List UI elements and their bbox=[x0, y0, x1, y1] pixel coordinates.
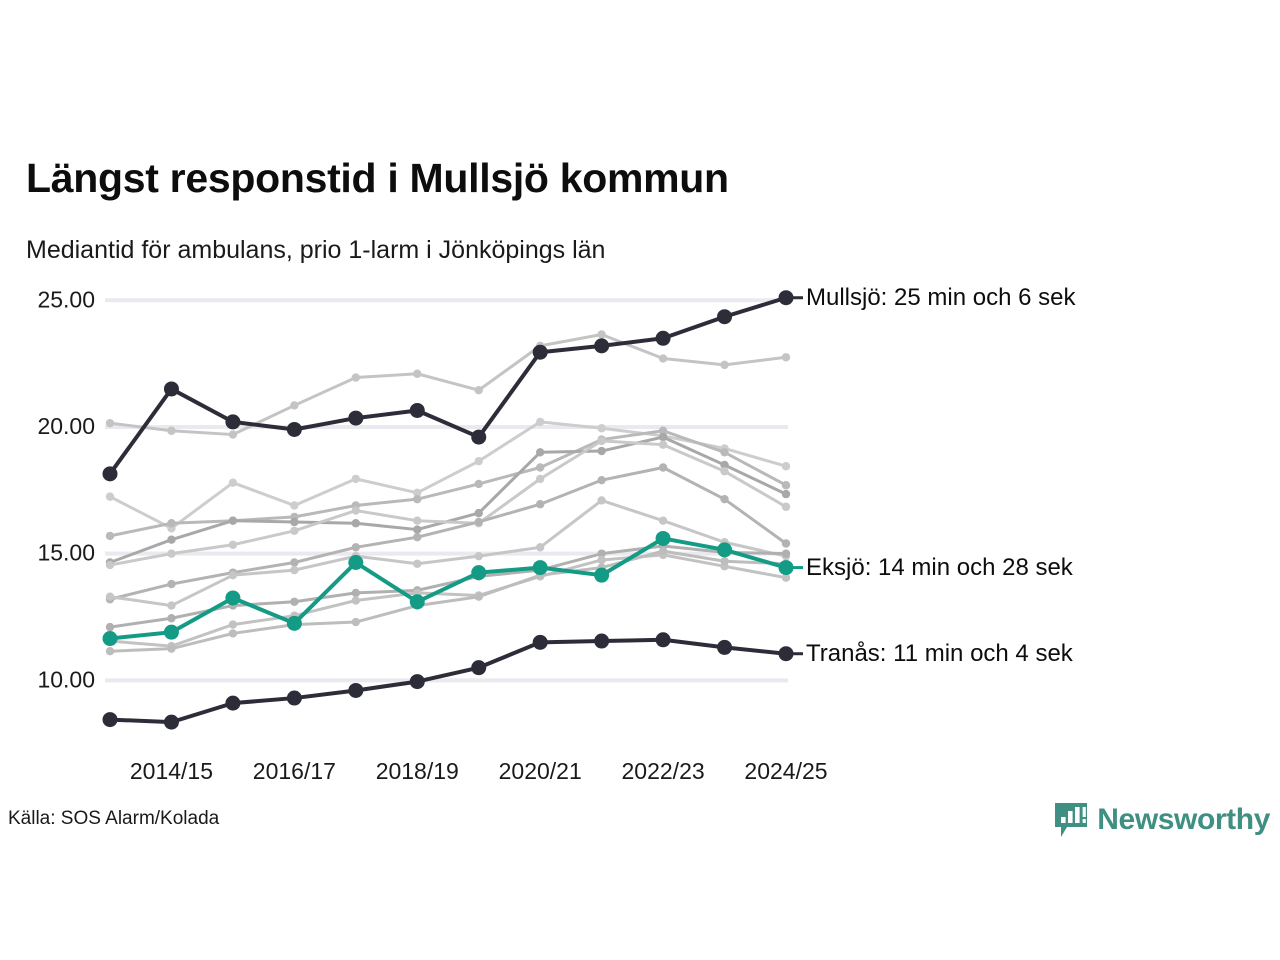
data-point bbox=[659, 463, 667, 471]
data-point bbox=[597, 437, 605, 445]
y-tick-label: 10.00 bbox=[37, 666, 95, 692]
data-point bbox=[413, 533, 421, 541]
data-point bbox=[106, 419, 114, 427]
data-point bbox=[536, 463, 544, 471]
data-point bbox=[656, 632, 671, 647]
data-point bbox=[106, 561, 114, 569]
data-point bbox=[536, 543, 544, 551]
data-point bbox=[290, 527, 298, 535]
x-tick-label: 2018/19 bbox=[376, 758, 459, 784]
series-line bbox=[110, 551, 786, 651]
data-point bbox=[659, 433, 667, 441]
data-point bbox=[720, 495, 728, 503]
data-point bbox=[594, 338, 609, 353]
data-point bbox=[290, 501, 298, 509]
data-point bbox=[659, 547, 667, 555]
data-point bbox=[106, 532, 114, 540]
data-point bbox=[536, 418, 544, 426]
data-point bbox=[597, 424, 605, 432]
data-point bbox=[352, 519, 360, 527]
y-tick-label: 20.00 bbox=[37, 413, 95, 439]
data-point bbox=[290, 598, 298, 606]
data-point bbox=[720, 448, 728, 456]
x-tick-label: 2024/25 bbox=[744, 758, 827, 784]
series-line bbox=[110, 441, 786, 565]
data-point bbox=[594, 568, 609, 583]
data-point bbox=[659, 354, 667, 362]
data-point bbox=[352, 596, 360, 604]
data-point bbox=[536, 448, 544, 456]
data-point bbox=[413, 495, 421, 503]
data-point bbox=[720, 557, 728, 565]
data-point bbox=[717, 640, 732, 655]
data-point bbox=[533, 635, 548, 650]
data-point bbox=[106, 492, 114, 500]
y-tick-label: 25.00 bbox=[37, 286, 95, 312]
data-point bbox=[290, 518, 298, 526]
x-tick-label: 2020/21 bbox=[499, 758, 582, 784]
series-label: Eksjö: 14 min och 28 sek bbox=[806, 554, 1074, 581]
data-point bbox=[533, 560, 548, 575]
series-line bbox=[110, 467, 786, 599]
data-point bbox=[597, 330, 605, 338]
data-point bbox=[533, 345, 548, 360]
data-point bbox=[594, 634, 609, 649]
data-point bbox=[167, 580, 175, 588]
y-axis-tick-labels: 10.0015.0020.0025.00 bbox=[37, 286, 95, 692]
data-point bbox=[656, 331, 671, 346]
data-point bbox=[597, 556, 605, 564]
data-point bbox=[779, 290, 794, 305]
data-point bbox=[167, 519, 175, 527]
data-point bbox=[410, 674, 425, 689]
data-point bbox=[597, 476, 605, 484]
bar-chart-speech-bubble-icon bbox=[1054, 801, 1088, 839]
data-point bbox=[717, 542, 732, 557]
data-point bbox=[352, 589, 360, 597]
data-point bbox=[348, 683, 363, 698]
data-point bbox=[290, 566, 298, 574]
data-point bbox=[475, 593, 483, 601]
data-point bbox=[779, 560, 794, 575]
data-point bbox=[471, 430, 486, 445]
x-tick-label: 2022/23 bbox=[622, 758, 705, 784]
data-point bbox=[475, 552, 483, 560]
data-point bbox=[167, 536, 175, 544]
context-series-group bbox=[106, 330, 790, 655]
data-point bbox=[348, 555, 363, 570]
x-axis-tick-labels: 2014/152016/172018/192020/212022/232024/… bbox=[130, 758, 828, 784]
data-point bbox=[225, 414, 240, 429]
data-point bbox=[782, 481, 790, 489]
gridlines bbox=[105, 300, 788, 680]
data-point bbox=[290, 558, 298, 566]
data-point bbox=[229, 430, 237, 438]
data-point bbox=[348, 411, 363, 426]
data-point bbox=[410, 594, 425, 609]
data-point bbox=[475, 509, 483, 517]
data-point bbox=[410, 403, 425, 418]
data-point bbox=[103, 466, 118, 481]
logo-wordmark: Newsworthy bbox=[1097, 805, 1270, 835]
series-label: Tranås: 11 min och 4 sek bbox=[806, 640, 1074, 667]
data-point bbox=[475, 457, 483, 465]
source-note: Källa: SOS Alarm/Kolada bbox=[8, 808, 219, 830]
data-point bbox=[413, 370, 421, 378]
data-point bbox=[475, 386, 483, 394]
data-point bbox=[167, 549, 175, 557]
data-point bbox=[597, 447, 605, 455]
data-point bbox=[164, 381, 179, 396]
data-point bbox=[352, 543, 360, 551]
data-point bbox=[229, 620, 237, 628]
data-point bbox=[475, 480, 483, 488]
data-point bbox=[720, 361, 728, 369]
x-tick-label: 2016/17 bbox=[253, 758, 336, 784]
y-tick-label: 15.00 bbox=[37, 540, 95, 566]
data-point bbox=[656, 531, 671, 546]
data-point bbox=[164, 715, 179, 730]
data-point bbox=[287, 616, 302, 631]
data-point bbox=[229, 517, 237, 525]
series-label: Mullsjö: 25 min och 6 sek bbox=[806, 284, 1076, 311]
data-point bbox=[167, 614, 175, 622]
data-point bbox=[597, 496, 605, 504]
data-point bbox=[475, 518, 483, 526]
data-point bbox=[229, 571, 237, 579]
data-point bbox=[106, 593, 114, 601]
data-point bbox=[229, 541, 237, 549]
data-point bbox=[782, 353, 790, 361]
data-point bbox=[413, 517, 421, 525]
data-point bbox=[659, 517, 667, 525]
data-point bbox=[225, 696, 240, 711]
data-point bbox=[352, 618, 360, 626]
data-point bbox=[536, 475, 544, 483]
data-point bbox=[782, 503, 790, 511]
data-point bbox=[229, 478, 237, 486]
data-point bbox=[720, 467, 728, 475]
data-point bbox=[225, 590, 240, 605]
data-point bbox=[413, 560, 421, 568]
data-point bbox=[782, 539, 790, 547]
highlight-series-group bbox=[103, 290, 794, 729]
newsworthy-logo[interactable]: Newsworthy bbox=[1054, 798, 1270, 842]
data-point bbox=[536, 500, 544, 508]
data-point bbox=[167, 427, 175, 435]
data-point bbox=[290, 401, 298, 409]
data-point bbox=[471, 565, 486, 580]
data-point bbox=[287, 691, 302, 706]
data-point bbox=[106, 623, 114, 631]
data-point bbox=[106, 647, 114, 655]
data-point bbox=[779, 646, 794, 661]
data-point bbox=[103, 631, 118, 646]
series-line bbox=[110, 334, 786, 434]
data-point bbox=[164, 625, 179, 640]
data-point bbox=[782, 462, 790, 470]
data-point bbox=[167, 601, 175, 609]
series-end-labels: Mullsjö: 25 min och 6 sekEksjö: 14 min o… bbox=[793, 284, 1076, 667]
data-point bbox=[782, 549, 790, 557]
data-point bbox=[352, 475, 360, 483]
data-point bbox=[167, 644, 175, 652]
data-point bbox=[352, 506, 360, 514]
data-point bbox=[229, 629, 237, 637]
data-point bbox=[413, 525, 421, 533]
data-point bbox=[471, 660, 486, 675]
data-point bbox=[717, 309, 732, 324]
chart-page: Längst responstid i Mullsjö kommun Media… bbox=[0, 0, 1280, 960]
data-point bbox=[352, 373, 360, 381]
data-point bbox=[287, 422, 302, 437]
data-point bbox=[103, 712, 118, 727]
x-tick-label: 2014/15 bbox=[130, 758, 213, 784]
data-point bbox=[659, 440, 667, 448]
data-point bbox=[782, 490, 790, 498]
